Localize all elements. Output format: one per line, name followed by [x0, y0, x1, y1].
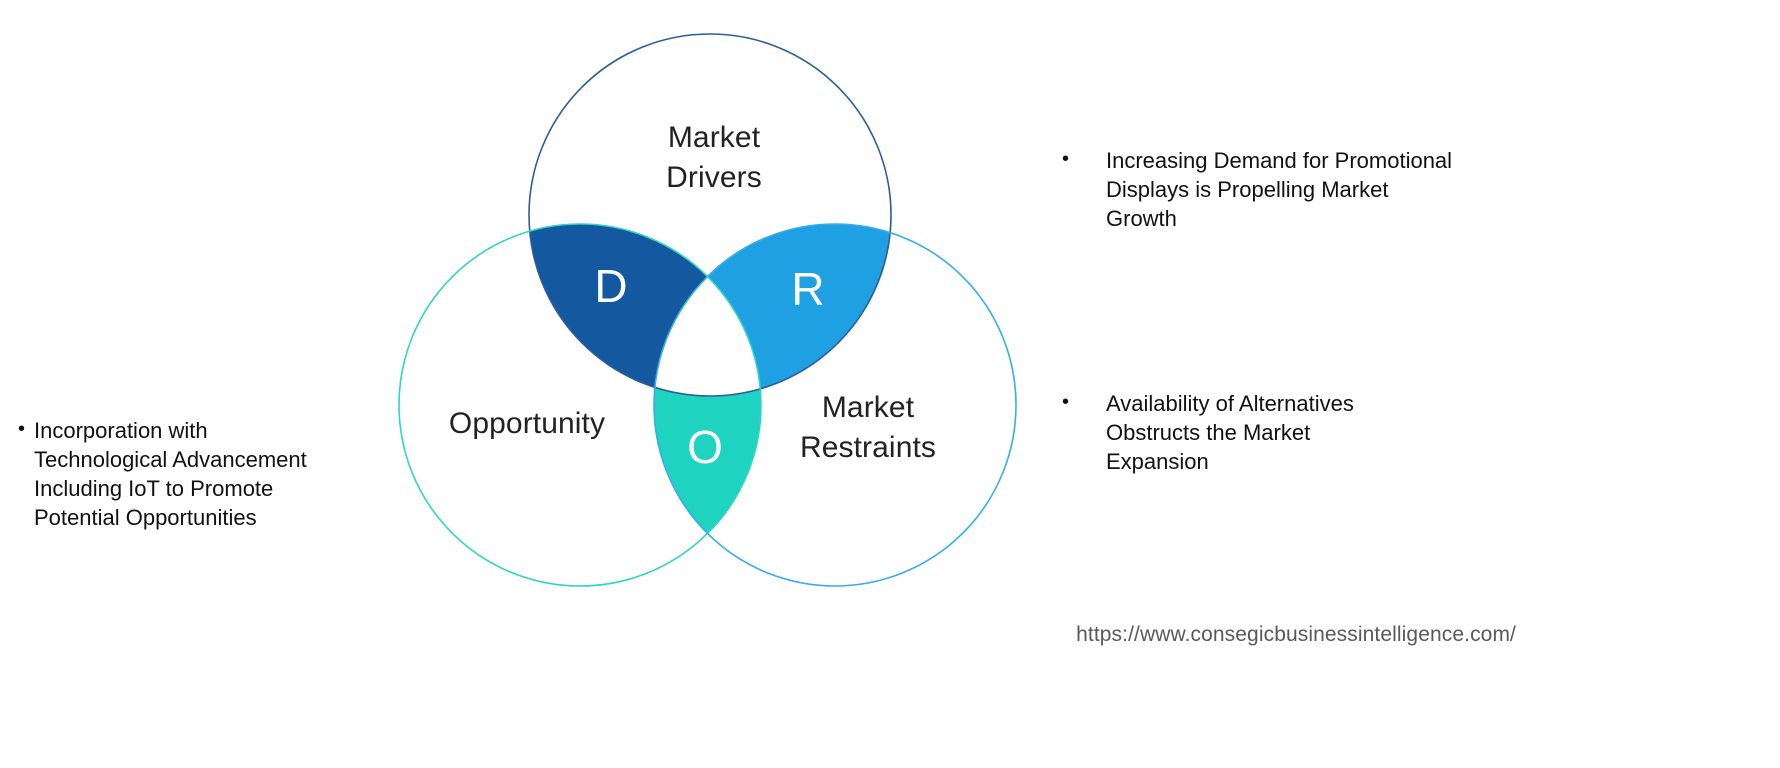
bullet-icon: •	[1062, 389, 1106, 415]
lens-letter-r: R	[778, 266, 838, 312]
circle-label-market-restraints: Market Restraints	[768, 388, 968, 468]
circle-label-market-drivers: Market Drivers	[614, 118, 814, 198]
callout-market-drivers: • Increasing Demand for Promotional Disp…	[1062, 146, 1532, 233]
bullet-icon: •	[1062, 146, 1106, 172]
callout-market-drivers-text: Increasing Demand for Promotional Displa…	[1106, 146, 1532, 233]
callout-market-restraints: • Availability of Alternatives Obstructs…	[1062, 389, 1482, 476]
source-url[interactable]: https://www.consegicbusinessintelligence…	[1046, 622, 1516, 647]
venn-diagram: Market Drivers Opportunity Market Restra…	[0, 0, 1060, 640]
callout-opportunity: • Incorporation with Technological Advan…	[18, 416, 390, 532]
lens-letter-d: D	[581, 263, 641, 309]
lens-letter-o: O	[675, 424, 735, 470]
callout-market-restraints-text: Availability of Alternatives Obstructs t…	[1106, 389, 1482, 476]
venn-diagram-svg	[0, 0, 1060, 640]
callout-opportunity-text: Incorporation with Technological Advance…	[34, 416, 390, 532]
bullet-icon: •	[18, 416, 34, 442]
circle-label-opportunity: Opportunity	[420, 404, 634, 444]
